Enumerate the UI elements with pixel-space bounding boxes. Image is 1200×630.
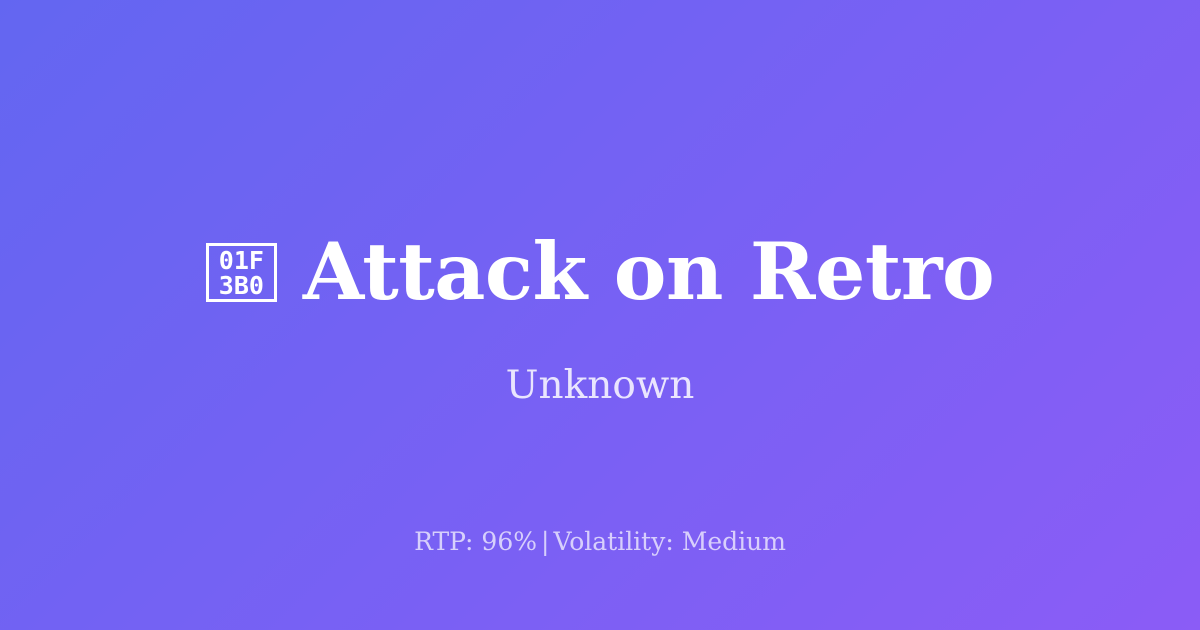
game-meta-line: RTP: 96%|Volatility: Medium — [0, 527, 1200, 557]
volatility-value: Volatility: Medium — [553, 527, 785, 556]
tofu-hex-row-top: 01F — [219, 248, 264, 273]
game-preview-card: 01F 3B0 Attack on Retro Unknown RTP: 96%… — [0, 0, 1200, 630]
game-provider-subtitle: Unknown — [0, 364, 1200, 409]
title-row: 01F 3B0 Attack on Retro — [0, 232, 1200, 311]
rtp-value: RTP: 96% — [414, 527, 537, 556]
meta-separator: | — [537, 527, 553, 556]
game-title: Attack on Retro — [303, 232, 994, 311]
tofu-hex-row-bottom: 3B0 — [219, 273, 264, 298]
slot-machine-emoji-tofu-icon: 01F 3B0 — [206, 243, 277, 302]
